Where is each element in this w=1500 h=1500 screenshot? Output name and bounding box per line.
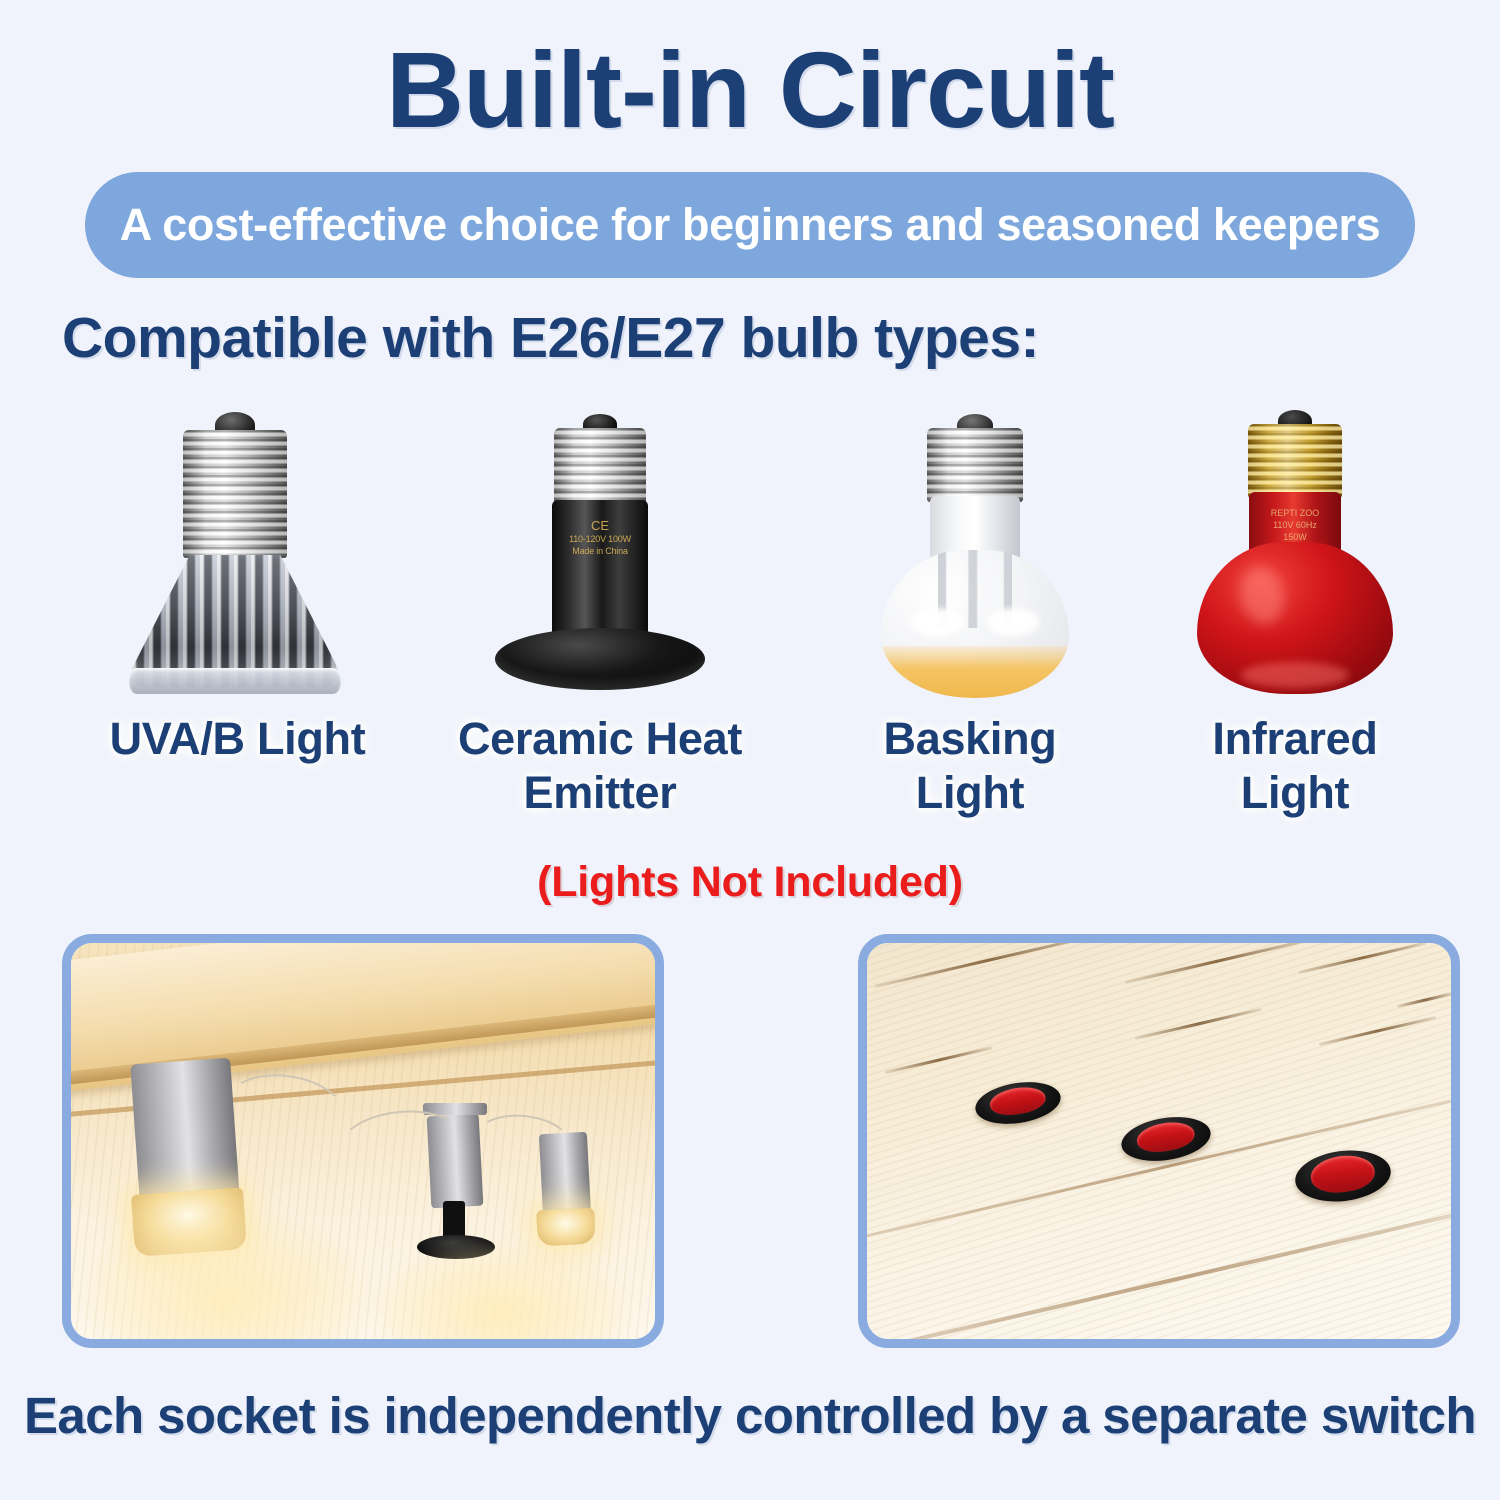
basking-bulb-icon: [825, 400, 1125, 700]
bulb-item-infrared: REPTI ZOO 110V 60Hz 150W: [1145, 400, 1445, 700]
bulb-glass: [881, 550, 1069, 698]
base-reflection: [1241, 662, 1349, 688]
lamp-sockets-photo: [62, 934, 664, 1348]
lamp-sockets-photo-content: [71, 943, 655, 1339]
bulb-item-uvab: [85, 400, 385, 700]
warm-glow: [881, 646, 1069, 698]
emitter-base-disc: [495, 628, 705, 690]
glass-highlight: [1234, 562, 1291, 629]
bulb-label-uvab: UVA/B Light: [55, 712, 420, 766]
emitter-print-line1: 110-120V 100W: [554, 534, 646, 545]
subtitle-text: A cost-effective choice for beginners an…: [120, 199, 1381, 251]
reflector-rim: [129, 668, 341, 694]
rocker-switches-photo-content: [867, 943, 1451, 1339]
ce-mark-icon: CE: [554, 518, 646, 533]
ceramic-heat-emitter-icon: CE 110-120V 100W Made in China: [450, 400, 750, 700]
compatibility-heading: Compatible with E26/E27 bulb types:: [62, 305, 1039, 371]
infrared-bulb-icon: REPTI ZOO 110V 60Hz 150W: [1145, 400, 1445, 700]
e27-screw-base: [554, 428, 646, 508]
bulb-label-basking: Basking Light: [845, 712, 1095, 820]
bulb-gallery: CE 110-120V 100W Made in China REPTI ZOO: [0, 400, 1500, 720]
glass-highlight-right: [987, 608, 1039, 636]
glass-highlight-left: [911, 608, 963, 636]
bulb-glass: [1197, 542, 1393, 694]
infrared-print-line1: REPTI ZOO: [1252, 508, 1338, 519]
rocker-switch-2-toggle[interactable]: [1135, 1119, 1197, 1156]
bulb-item-basking: [825, 400, 1125, 700]
footer-caption: Each socket is independently controlled …: [0, 1386, 1500, 1445]
e27-screw-base: [183, 430, 287, 558]
page-title: Built-in Circuit: [0, 32, 1500, 149]
rocker-switch-1-toggle[interactable]: [988, 1084, 1047, 1118]
lights-not-included-note: (Lights Not Included): [0, 858, 1500, 907]
infrared-print-line2: 110V 60Hz: [1252, 520, 1338, 531]
e27-brass-screw-base: [1248, 424, 1342, 498]
subtitle-banner: A cost-effective choice for beginners an…: [85, 172, 1415, 278]
bulb-item-ceramic-heat-emitter: CE 110-120V 100W Made in China: [450, 400, 750, 700]
bulb-label-infrared: Infrared Light: [1165, 712, 1425, 820]
bulb-label-ceramic-heat-emitter: Ceramic Heat Emitter: [440, 712, 760, 820]
e27-screw-base: [927, 428, 1023, 502]
rocker-switch-3-toggle[interactable]: [1309, 1152, 1377, 1196]
halogen-reflector-bulb-icon: [85, 400, 385, 700]
lamp-socket-1: [130, 1058, 240, 1205]
lit-bulb-3: [536, 1208, 596, 1247]
emitter-print-line2: Made in China: [554, 546, 646, 557]
rocker-switches-photo: [858, 934, 1460, 1348]
